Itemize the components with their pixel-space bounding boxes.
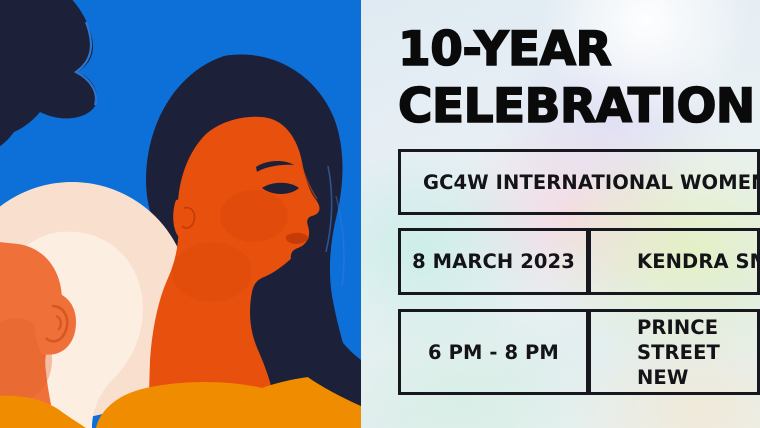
event-name-box: GC4W INTERNATIONAL WOMEN'S DAY xyxy=(398,149,760,215)
info-panel: 10-YEAR CELEBRATION GC4W INTERNATIONAL W… xyxy=(361,0,760,428)
event-time-text: 6 PM - 8 PM xyxy=(428,340,559,365)
event-name-text: GC4W INTERNATIONAL WOMEN'S DAY xyxy=(423,170,760,195)
address-line-2: NEW YORK, NY xyxy=(637,366,743,396)
illustration-svg xyxy=(0,0,361,428)
address-line-1: 126 PRINCE STREET xyxy=(637,309,720,364)
event-date-box: 8 MARCH 2023 xyxy=(398,228,589,295)
women-profiles-illustration xyxy=(0,0,361,428)
event-speaker-box: KENDRA SMITH xyxy=(588,228,760,295)
title-line-2: CELEBRATION xyxy=(398,78,760,135)
poster-title: 10-YEAR CELEBRATION xyxy=(398,21,760,135)
event-speaker-text: KENDRA SMITH xyxy=(637,249,760,274)
event-date-text: 8 MARCH 2023 xyxy=(412,249,575,274)
event-address-box: 126 PRINCE STREETNEW YORK, NY xyxy=(588,309,760,395)
event-poster: 10-YEAR CELEBRATION GC4W INTERNATIONAL W… xyxy=(0,0,760,428)
title-line-1: 10-YEAR xyxy=(398,21,760,78)
event-time-box: 6 PM - 8 PM xyxy=(398,309,589,395)
event-address-text: 126 PRINCE STREETNEW YORK, NY xyxy=(637,309,757,395)
